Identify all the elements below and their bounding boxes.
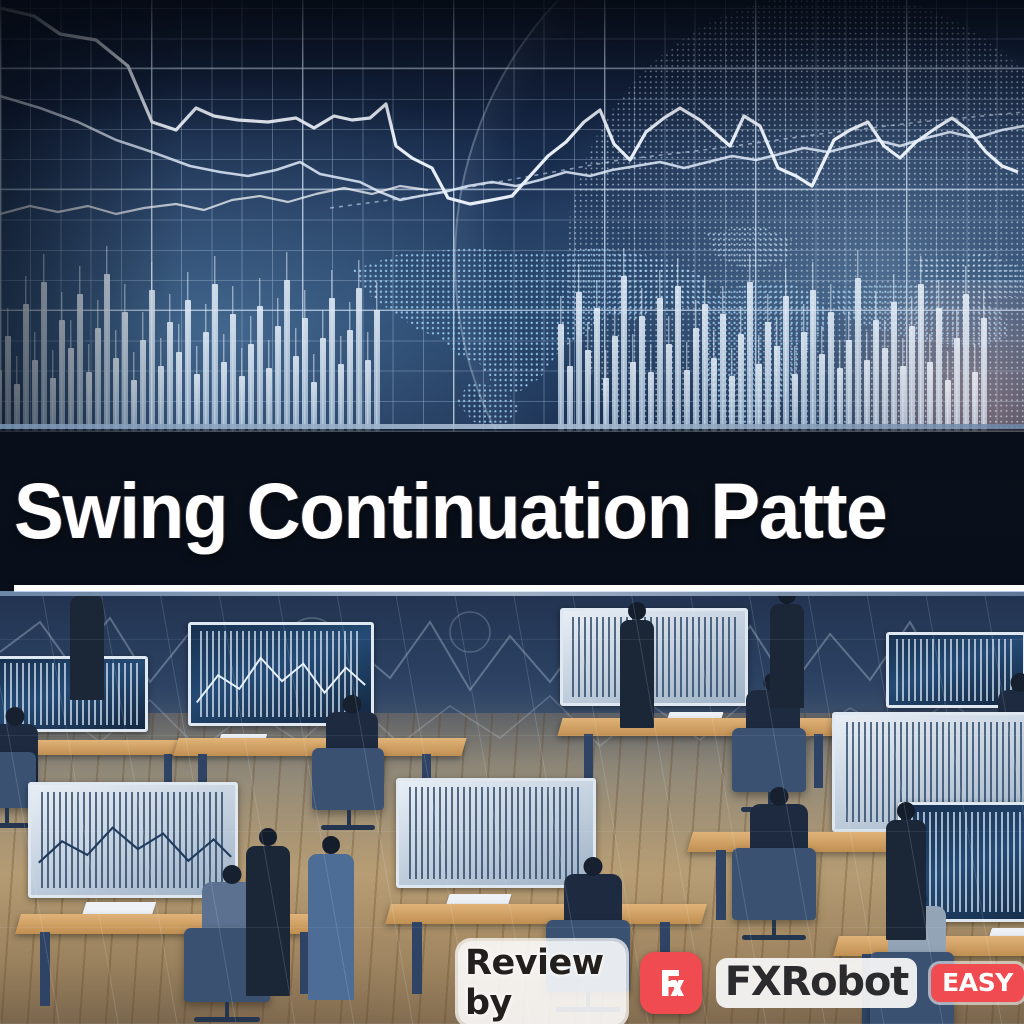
standing-staff: [886, 820, 926, 940]
page-title: Swing Continuation Patte: [14, 472, 1024, 549]
chart-monitor: [560, 608, 748, 706]
title-band: Swing Continuation Patte: [0, 424, 1024, 596]
brand-name: FXRobot: [716, 958, 917, 1008]
brand-lockup[interactable]: Review by FXRobot EASY: [458, 941, 1024, 1024]
chart-monitor: [396, 778, 596, 888]
status-badge: EASY: [931, 964, 1024, 1002]
screen-line-chart-icon: [31, 785, 235, 898]
band-top-edge: [0, 424, 1024, 429]
fxrobot-fx-monogram-icon[interactable]: [640, 952, 702, 1014]
standing-staff: [770, 604, 804, 708]
band-bottom-edge: [0, 591, 1024, 596]
standing-staff: [620, 620, 654, 728]
review-banner: Swing Continuation Patte Review by FXRob…: [0, 0, 1024, 1024]
chart-monitor: [28, 782, 238, 898]
city-lights-glow: [724, 282, 1024, 432]
trading-desk: [18, 782, 348, 1012]
standing-staff: [70, 596, 104, 700]
standing-staff: [246, 846, 290, 996]
financial-markets-backdrop: [0, 0, 1024, 432]
office-chair: [732, 848, 816, 920]
standing-staff: [308, 854, 354, 1000]
review-by-label: Review by: [458, 941, 626, 1024]
